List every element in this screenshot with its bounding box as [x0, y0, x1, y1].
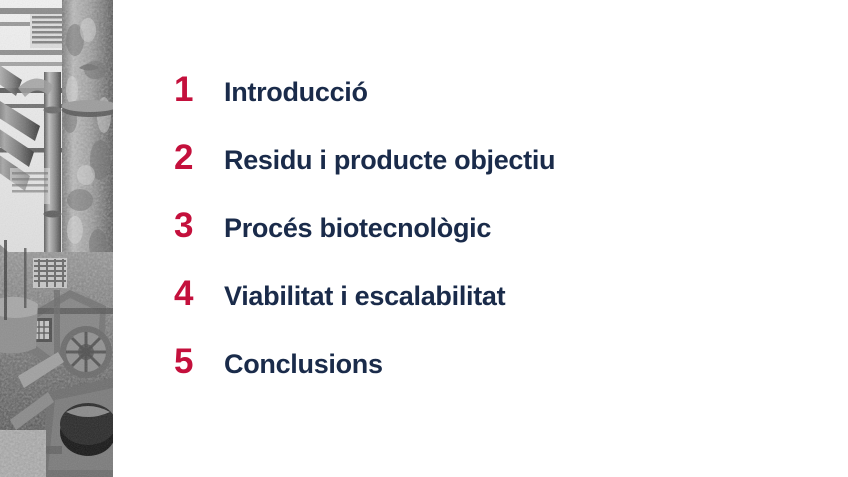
industrial-plant-photo	[0, 0, 113, 477]
agenda-number-3: 3	[174, 208, 224, 243]
agenda-list: 1 Introducció 2 Residu i producte object…	[174, 72, 814, 412]
industrial-photo-strip	[0, 0, 113, 477]
agenda-number-5: 5	[174, 344, 224, 379]
agenda-label-5: Conclusions	[224, 351, 383, 378]
slide-canvas: 1 Introducció 2 Residu i producte object…	[0, 0, 848, 477]
agenda-label-4: Viabilitat i escalabilitat	[224, 283, 505, 310]
agenda-item-3[interactable]: 3 Procés biotecnològic	[174, 208, 814, 276]
agenda-item-1[interactable]: 1 Introducció	[174, 72, 814, 140]
agenda-number-1: 1	[174, 72, 224, 107]
agenda-item-5[interactable]: 5 Conclusions	[174, 344, 814, 412]
agenda-number-4: 4	[174, 276, 224, 311]
agenda-item-4[interactable]: 4 Viabilitat i escalabilitat	[174, 276, 814, 344]
agenda-number-2: 2	[174, 140, 224, 175]
agenda-label-3: Procés biotecnològic	[224, 215, 491, 242]
agenda-label-1: Introducció	[224, 79, 368, 106]
agenda-label-2: Residu i producte objectiu	[224, 147, 555, 174]
agenda-item-2[interactable]: 2 Residu i producte objectiu	[174, 140, 814, 208]
